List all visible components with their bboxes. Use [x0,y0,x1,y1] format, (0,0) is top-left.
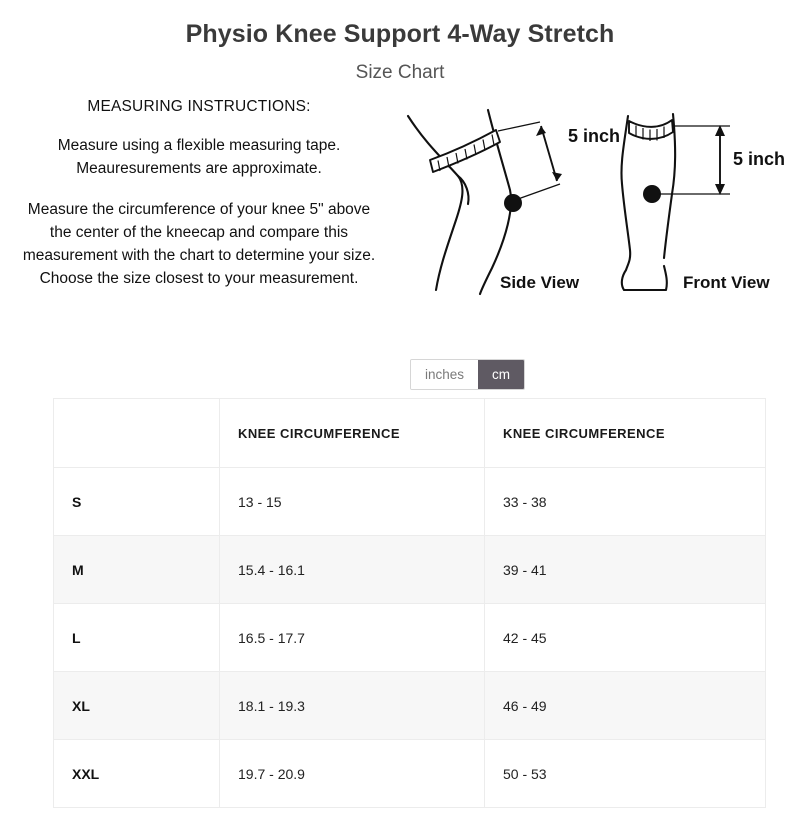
front-view-figure: 5 inch Front View [621,114,785,292]
table-row: XL 18.1 - 19.3 46 - 49 [54,672,766,740]
table-row: L 16.5 - 17.7 42 - 45 [54,604,766,672]
side-view-figure: 5 inch Side View [408,110,620,294]
measuring-tape-side [430,130,500,172]
cell-cm: 50 - 53 [485,740,766,808]
size-chart-table: KNEE CIRCUMFERENCE KNEE CIRCUMFERENCE S … [53,398,766,808]
cell-inches: 15.4 - 16.1 [220,536,485,604]
instructions-paragraph-1: Measure using a flexible measuring tape.… [18,134,380,180]
cell-size: S [54,468,220,536]
cell-cm: 39 - 41 [485,536,766,604]
side-view-dimension-label: 5 inch [568,126,620,146]
cell-cm: 46 - 49 [485,672,766,740]
instructions-paragraph-2: Measure the circumference of your knee 5… [18,198,380,290]
kneecap-dot-side [504,194,522,212]
unit-toggle-cm[interactable]: cm [478,360,524,389]
cell-cm: 42 - 45 [485,604,766,672]
page-title: Physio Knee Support 4-Way Stretch [0,20,800,49]
cell-inches: 13 - 15 [220,468,485,536]
cell-size: XL [54,672,220,740]
table-header-row: KNEE CIRCUMFERENCE KNEE CIRCUMFERENCE [54,399,766,468]
table-row: XXL 19.7 - 20.9 50 - 53 [54,740,766,808]
cell-inches: 16.5 - 17.7 [220,604,485,672]
table-body: S 13 - 15 33 - 38 M 15.4 - 16.1 39 - 41 … [54,468,766,808]
cell-size: L [54,604,220,672]
cell-cm: 33 - 38 [485,468,766,536]
measuring-instructions: MEASURING INSTRUCTIONS: Measure using a … [0,98,400,290]
page-subtitle: Size Chart [0,62,800,84]
front-view-dimension-label: 5 inch [733,149,785,169]
size-chart-table-wrapper: KNEE CIRCUMFERENCE KNEE CIRCUMFERENCE S … [53,398,765,808]
upper-content: MEASURING INSTRUCTIONS: Measure using a … [0,98,800,298]
table-row: S 13 - 15 33 - 38 [54,468,766,536]
measurement-figures: 5 inch Side View [400,98,800,298]
table-row: M 15.4 - 16.1 39 - 41 [54,536,766,604]
unit-toggle-inches[interactable]: inches [411,360,478,389]
column-header-knee-circumference-cm: KNEE CIRCUMFERENCE [485,399,766,468]
cell-size: M [54,536,220,604]
cell-inches: 18.1 - 19.3 [220,672,485,740]
cell-inches: 19.7 - 20.9 [220,740,485,808]
leg-diagrams-svg: 5 inch Side View [400,98,800,298]
cell-size: XXL [54,740,220,808]
measuring-tape-front [629,120,673,141]
front-view-caption: Front View [683,273,770,292]
unit-toggle: inches cm [410,359,525,390]
column-header-size [54,399,220,468]
kneecap-dot-front [643,185,661,203]
side-view-caption: Side View [500,273,580,292]
column-header-knee-circumference-inches: KNEE CIRCUMFERENCE [220,399,485,468]
instructions-heading: MEASURING INSTRUCTIONS: [18,98,380,116]
table-header: KNEE CIRCUMFERENCE KNEE CIRCUMFERENCE [54,399,766,468]
